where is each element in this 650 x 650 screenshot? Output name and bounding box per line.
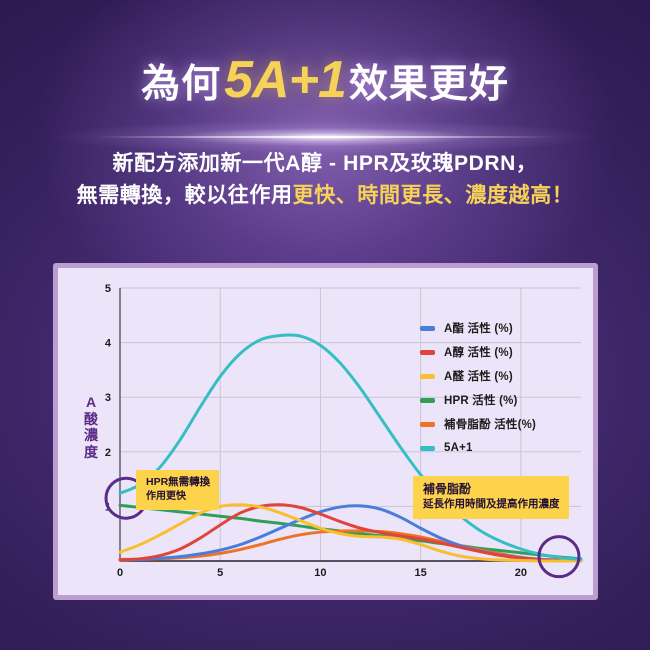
y-tick-label-2: 2 [105,447,111,459]
y-axis-label-char-3: 濃 [80,427,102,444]
y-axis-label-char-1: A [80,394,102,411]
page-title: 為何5A+1效果更好 [0,54,650,106]
glow-divider-line [95,136,555,138]
x-tick-label-5: 5 [217,567,223,579]
subtitle-line-1-text: 新配方添加新一代A醇 - HPR及玫瑰PDRN， [112,152,537,175]
x-tick-label-20: 20 [515,567,527,579]
y-tick-label-4: 4 [105,338,112,350]
headline-prefix: 為何 [141,63,221,106]
y-axis-label: A 酸 濃 度 [80,394,102,460]
headline-suffix: 效果更好 [349,63,509,106]
legend-swatch-icon [420,350,435,355]
legend-swatch-icon [420,398,435,403]
legend-item-label: A酯 活性 (%) [444,320,513,336]
legend-item-label: HPR 活性 (%) [444,392,518,408]
bakuchiol-callout: 補骨脂酚 延長作用時間及提高作用濃度 [413,476,569,519]
legend-item-label: 補骨脂酚 活性(%) [444,416,536,432]
chart-panel: 0510152012345 A 酸 濃 度 A酯 活性 (%)A醇 活性 (%)… [53,263,598,600]
legend-swatch-icon [420,422,435,427]
legend-item-2[interactable]: A醛 活性 (%) [420,364,595,388]
legend-item-4[interactable]: 補骨脂酚 活性(%) [420,412,595,436]
page-subtitle: 新配方添加新一代A醇 - HPR及玫瑰PDRN， 無需轉換，較以往作用更快、時間… [0,148,650,212]
chart-legend: A酯 活性 (%)A醇 活性 (%)A醛 活性 (%)HPR 活性 (%)補骨脂… [420,316,595,460]
x-tick-label-10: 10 [314,567,326,579]
legend-item-0[interactable]: A酯 活性 (%) [420,316,595,340]
legend-item-3[interactable]: HPR 活性 (%) [420,388,595,412]
legend-swatch-icon [420,326,435,331]
hpr-callout: HPR無需轉換 作用更快 [136,470,219,510]
y-axis-label-char-2: 酸 [80,411,102,428]
subtitle-line-2-white: 無需轉換，較以往作用 [77,184,293,207]
legend-item-5[interactable]: 5A+1 [420,436,595,460]
subtitle-line-1: 新配方添加新一代A醇 - HPR及玫瑰PDRN， [0,148,650,180]
poster-root: 為何5A+1效果更好 新配方添加新一代A醇 - HPR及玫瑰PDRN， 無需轉換… [0,0,650,650]
legend-item-label: A醇 活性 (%) [444,344,513,360]
legend-item-label: 5A+1 [444,442,473,454]
x-tick-label-15: 15 [415,567,427,579]
legend-item-label: A醛 活性 (%) [444,368,513,384]
hpr-callout-title: HPR無需轉換 [146,476,210,490]
x-tick-label-0: 0 [117,567,123,579]
y-tick-label-5: 5 [105,283,111,295]
legend-item-1[interactable]: A醇 活性 (%) [420,340,595,364]
subtitle-line-2-gold: 更快、時間更長、濃度越高！ [293,184,574,207]
bakuchiol-callout-subtitle: 延長作用時間及提高作用濃度 [423,498,560,512]
headline-accent: 5A+1 [221,51,349,109]
legend-swatch-icon [420,374,435,379]
bakuchiol-callout-title: 補骨脂酚 [423,482,560,498]
y-tick-label-3: 3 [105,392,111,404]
subtitle-line-2: 無需轉換，較以往作用更快、時間更長、濃度越高！ [0,180,650,212]
hpr-callout-subtitle: 作用更快 [146,490,210,503]
legend-swatch-icon [420,446,435,451]
y-axis-label-char-4: 度 [80,444,102,461]
